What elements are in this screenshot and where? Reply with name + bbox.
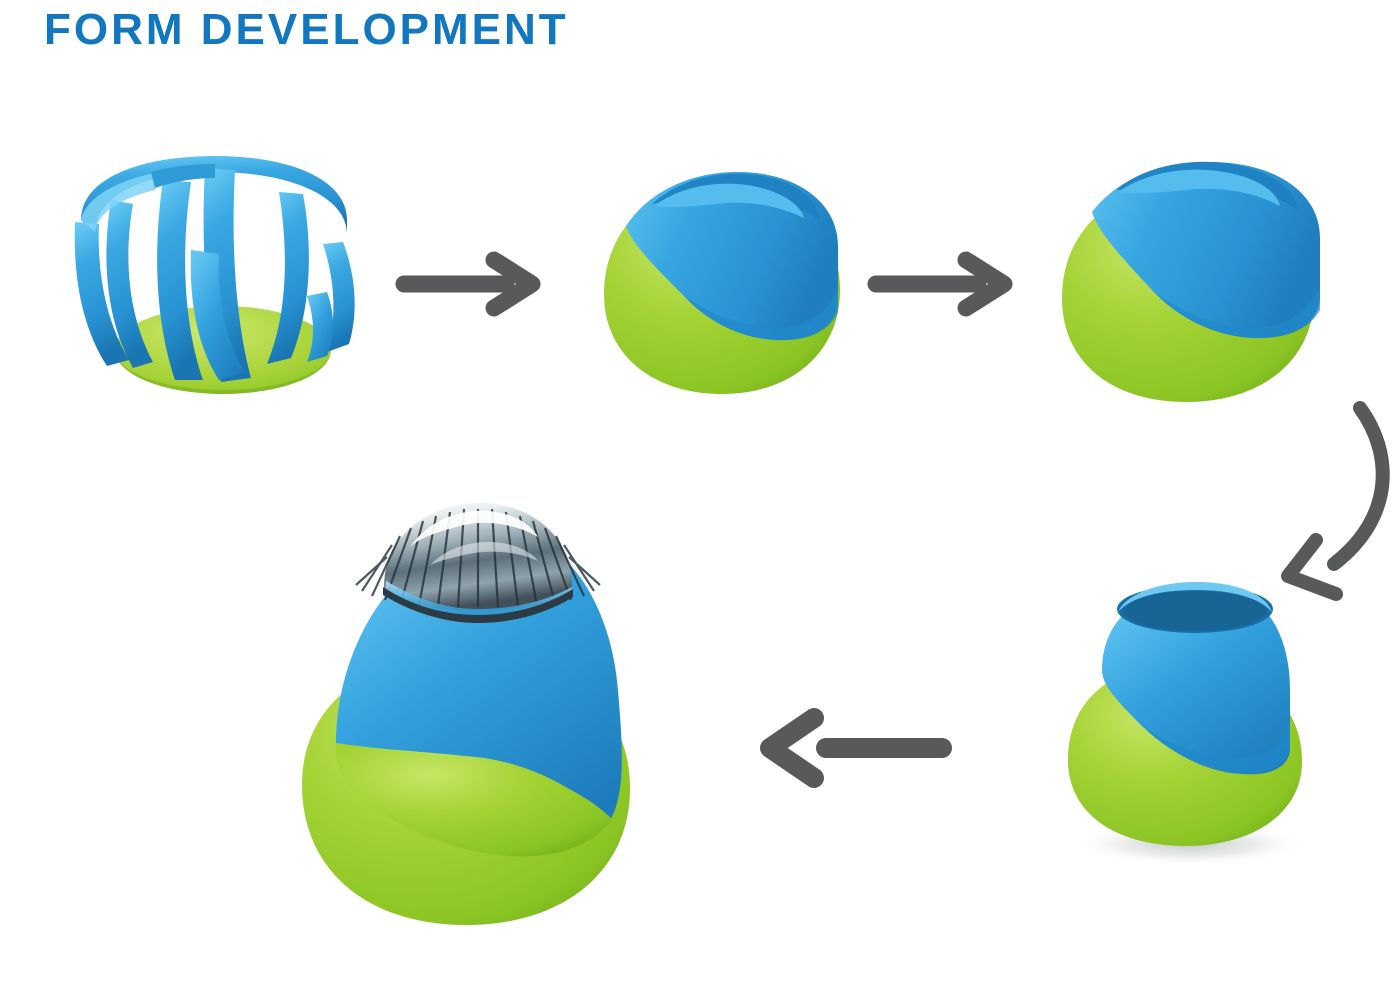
stage-2-svg	[592, 162, 852, 412]
form-development-board: FORM DEVELOPMENT	[0, 0, 1400, 990]
arrow-curve	[1334, 408, 1383, 564]
figure-stage-5	[280, 495, 670, 955]
figure-stage-1	[55, 150, 385, 410]
arrow-head	[770, 718, 814, 778]
arrow-stage2-to-stage3	[870, 252, 1020, 316]
figure-stage-3	[1048, 158, 1328, 418]
interior-shadow	[1123, 591, 1267, 631]
figure-arrow-1	[398, 252, 548, 316]
stage-4-svg	[1040, 572, 1330, 872]
stage-3-svg	[1048, 158, 1328, 418]
page-title: FORM DEVELOPMENT	[44, 8, 569, 52]
figure-arrow-4	[756, 704, 956, 784]
figure-stage-2	[592, 162, 852, 412]
arrow-stage4-to-stage5	[756, 704, 956, 784]
arrow-stage1-to-stage2	[398, 252, 548, 316]
stage-1-svg	[55, 150, 385, 410]
figure-arrow-2	[870, 252, 1020, 316]
figure-stage-4	[1040, 572, 1330, 872]
stage-5-svg	[280, 495, 670, 955]
